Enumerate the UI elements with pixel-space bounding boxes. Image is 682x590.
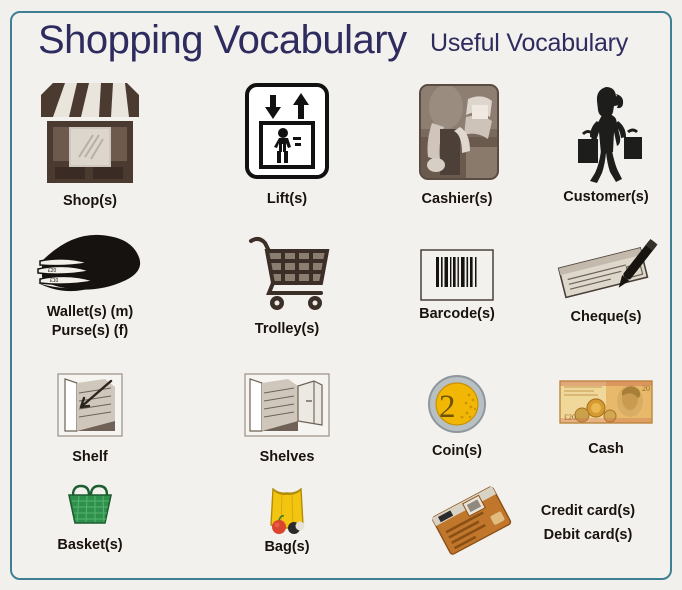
- euro-coin-icon: 2: [425, 373, 489, 435]
- poster: Shopping Vocabulary Useful Vocabulary: [0, 0, 682, 590]
- cheque-and-pen-icon: [547, 241, 665, 303]
- shopping-trolley-icon: [237, 231, 337, 319]
- single-shelf-icon: [57, 373, 123, 437]
- item-label: Cash: [536, 441, 672, 458]
- item-label-secondary: Debit card(s): [508, 525, 668, 545]
- item-label: Coin(s): [394, 443, 520, 460]
- item-basket[interactable]: Basket(s): [20, 481, 160, 554]
- banknotes-icon: £20 20: [558, 375, 654, 429]
- item-label: Cheque(s): [536, 309, 672, 326]
- item-coin[interactable]: 2 Coin(s): [394, 373, 520, 460]
- item-label: Basket(s): [20, 537, 160, 554]
- item-customer[interactable]: Customer(s): [536, 81, 672, 206]
- item-label: Customer(s): [536, 189, 672, 206]
- item-label: Wallet(s) (m): [20, 303, 160, 322]
- cashier-photo-icon: [410, 81, 504, 187]
- shopping-basket-icon: [59, 481, 121, 529]
- shopping-bag-icon: [259, 481, 315, 537]
- poster-frame: Shopping Vocabulary Useful Vocabulary: [10, 11, 672, 580]
- item-label: Shelves: [217, 449, 357, 466]
- page-subtitle: Useful Vocabulary: [430, 29, 628, 58]
- svg-text:£10: £10: [50, 278, 59, 284]
- barcode-icon: [420, 249, 494, 301]
- item-cash[interactable]: £20 20 Cash: [536, 375, 672, 458]
- wallet-icon: £20 £10: [32, 231, 148, 299]
- svg-text:2: 2: [439, 389, 456, 425]
- item-label: Lift(s): [217, 191, 357, 208]
- page-title: Shopping Vocabulary: [38, 18, 407, 63]
- item-trolley[interactable]: Trolley(s): [217, 231, 357, 338]
- item-shelves[interactable]: Shelves: [217, 373, 357, 466]
- item-label: Trolley(s): [217, 321, 357, 338]
- credit-card-icon: [426, 483, 510, 553]
- item-label: Bag(s): [217, 539, 357, 556]
- item-label: Shop(s): [20, 193, 160, 210]
- item-wallet[interactable]: £20 £10 Wallet(s) (m) Purse(s) (f): [20, 231, 160, 341]
- item-label-secondary: Purse(s) (f): [20, 322, 160, 341]
- customer-silhouette-icon: [556, 81, 656, 187]
- item-label: Cashier(s): [394, 191, 520, 208]
- title-bar: Shopping Vocabulary Useful Vocabulary: [12, 13, 670, 75]
- item-bag[interactable]: Bag(s): [217, 481, 357, 556]
- item-label: Shelf: [20, 449, 160, 466]
- item-cheque[interactable]: Cheque(s): [536, 241, 672, 326]
- svg-text:£20: £20: [48, 268, 57, 274]
- item-barcode[interactable]: Barcode(s): [394, 249, 520, 323]
- shop-front-icon: [37, 81, 143, 189]
- item-shelf[interactable]: Shelf: [20, 373, 160, 466]
- item-label: Barcode(s): [394, 306, 520, 323]
- item-cashier[interactable]: Cashier(s): [394, 81, 520, 208]
- item-credit-card[interactable]: Credit card(s) Debit card(s): [422, 483, 672, 553]
- item-shop[interactable]: Shop(s): [20, 81, 160, 210]
- lift-sign-icon: [239, 81, 335, 185]
- item-lift[interactable]: Lift(s): [217, 81, 357, 208]
- multiple-shelves-icon: [244, 373, 330, 437]
- item-label: Credit card(s): [508, 501, 668, 521]
